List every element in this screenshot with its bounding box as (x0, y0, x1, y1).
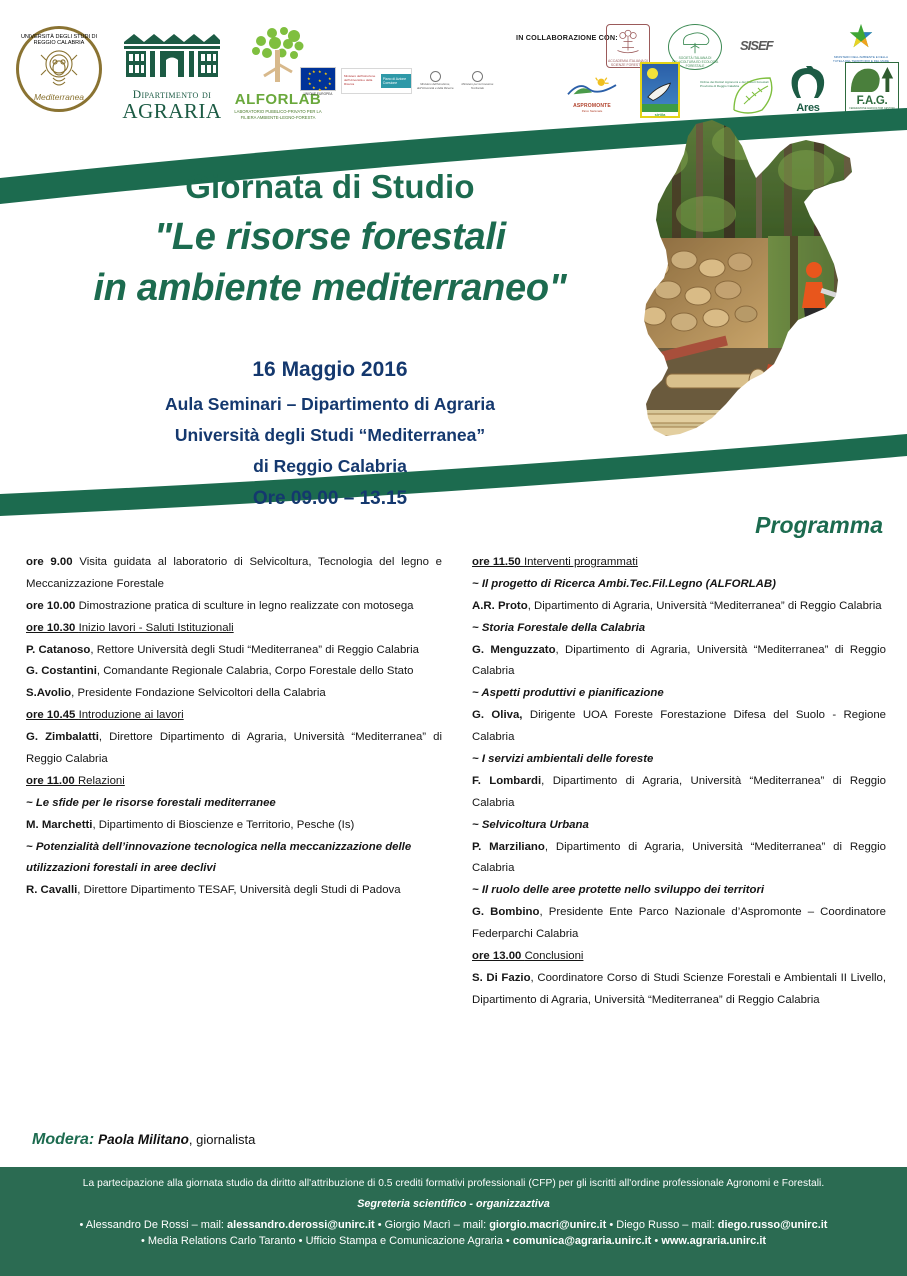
parco-aspromonte-logo: ASPROMONTE Parco Nazionale (564, 74, 620, 116)
program-speaker: M. Marchetti, Dipartimento di Bioscienze… (26, 815, 442, 837)
program-column-right: ore 11.50 Interventi programmati~ Il pro… (472, 552, 886, 1012)
contact-email[interactable]: diego.russo@unirc.it (718, 1219, 828, 1231)
academy-emblem-icon (608, 28, 648, 58)
footer-cfp-note: La partecipazione alla giornata studio d… (0, 1178, 907, 1189)
contact-prefix: • Diego Russo – mail: (606, 1219, 717, 1231)
program-talk-title: ~ Potenzialità dell’innovazione tecnolog… (26, 837, 442, 881)
venue-line-1: Aula Seminari – Dipartimento di Agraria (0, 394, 660, 415)
footer-secretariat-title: Segreteria scientifico - organizzaztiva (0, 1198, 907, 1210)
program-time: ore 10.00 (26, 600, 79, 612)
footer-bar: La partecipazione alla giornata studio d… (0, 1167, 907, 1276)
program-speaker: G. Oliva, Dirigente UOA Foreste Forestaz… (472, 705, 886, 749)
title-block: Giornata di Studio "Le risorse forestali… (0, 168, 660, 310)
contact-email[interactable]: www.agraria.unirc.it (661, 1235, 766, 1247)
speaker-name: S.Avolio (26, 687, 71, 699)
program-section-header: ore 13.00 Conclusioni (472, 946, 886, 968)
moderator-role: , giornalista (189, 1132, 255, 1147)
title-line-2: "Le risorse forestali (0, 216, 660, 259)
program-time: ore 10.45 (26, 709, 79, 721)
speaker-name: S. Di Fazio (472, 972, 531, 984)
colored-star-icon (828, 22, 894, 54)
poster-root: UNIVERSITÀ DEGLI STUDI DI REGGIO CALABRI… (0, 0, 907, 1276)
fag-sub: FEDERAZIONE AGRICOLTORI GESTORI (846, 107, 898, 110)
speaker-name: P. Marziliano (472, 841, 545, 853)
ministero-istruzione-label: Ministero dell'Istruzione, dell'Universi… (417, 83, 454, 90)
sisef-label: SISEF (740, 38, 773, 53)
talk-title-text: ~ Potenzialità dell’innovazione tecnolog… (26, 841, 411, 875)
title-line-1: Giornata di Studio (0, 168, 660, 206)
program-section-header: ore 11.50 Interventi programmati (472, 552, 886, 574)
footer-contacts-line-2: • Media Relations Carlo Taranto • Uffici… (0, 1235, 907, 1247)
program-talk-title: ~ Il progetto di Ricerca Ambi.Tec.Fil.Le… (472, 574, 886, 596)
program-section-header: ore 10.45 Introduzione ai lavori (26, 705, 442, 727)
broadleaf-tree-icon (671, 29, 719, 55)
eu-caption: UNIONE EUROPEA (300, 92, 336, 96)
program-entry-text: Dimostrazione pratica di sculture in leg… (79, 600, 414, 612)
program-speaker: P. Catanoso, Rettore Università degli St… (26, 640, 442, 662)
ares-group-logo: Ares GROUP (780, 66, 836, 120)
programma-heading: Programma (755, 512, 883, 539)
speaker-affiliation: , Coordinatore Corso di Studi Scienze Fo… (472, 972, 886, 1006)
program-section-text: Conclusioni (525, 950, 584, 962)
footer-contacts-line-1: • Alessandro De Rossi – mail: alessandro… (0, 1219, 907, 1231)
venue-block: 16 Maggio 2016 Aula Seminari – Dipartime… (0, 358, 660, 510)
talk-title-text: ~ Aspetti produttivi e pianificazione (472, 687, 664, 699)
unirc-crest-logo: UNIVERSITÀ DEGLI STUDI DI REGGIO CALABRI… (16, 26, 102, 112)
speaker-name: G. Oliva, (472, 709, 522, 721)
talk-title-text: ~ Le sfide per le risorse forestali medi… (26, 797, 276, 809)
program-entry-text: Visita guidata al laboratorio di Selvico… (26, 556, 442, 590)
program-section-header: ore 11.00 Relazioni (26, 771, 442, 793)
speaker-name: M. Marchetti (26, 819, 92, 831)
program-section-text: Interventi programmati (524, 556, 638, 568)
program-speaker: G. Zimbalatti, Direttore Dipartimento di… (26, 727, 442, 771)
program-speaker: G. Bombino, Presidente Ente Parco Nazion… (472, 902, 886, 946)
olive-circle-icon (700, 72, 776, 116)
aspromonte-sub: Parco Nazionale (564, 109, 620, 113)
crest-ring-bottom-text: Mediterranea (19, 92, 99, 102)
eu-flag-icon: ★★ ★★ ★★ ★★ ★★ ★★ (300, 67, 336, 91)
speaker-name: A.R. Proto (472, 600, 528, 612)
dipartimento-label-line2: AGRARIA (118, 101, 226, 122)
fag-artwork (846, 63, 898, 95)
speaker-affiliation: , Comandante Regionale Calabria, Corpo F… (97, 665, 414, 677)
contact-email[interactable]: alessandro.derossi@unirc.it (227, 1219, 375, 1231)
speaker-name: P. Catanoso (26, 644, 90, 656)
program-entry: ore 10.00 Dimostrazione pratica di scult… (26, 596, 442, 618)
collaboration-label: IN COLLABORAZIONE CON: (516, 33, 618, 42)
contact-prefix: • Giorgio Macrì – mail: (375, 1219, 490, 1231)
speaker-affiliation: , Dipartimento di Agraria, Università “M… (528, 600, 882, 612)
program-time: ore 11.50 (472, 556, 524, 568)
program-speaker: G. Menguzzato, Dipartimento di Agraria, … (472, 640, 886, 684)
speaker-name: F. Lombardi (472, 775, 541, 787)
mountain-sun-icon (565, 74, 619, 98)
ares-label: Ares (780, 102, 836, 114)
program-section-underlined: ore 11.00 Relazioni (26, 775, 125, 787)
moderator-label: Modera: (32, 1131, 94, 1148)
program-speaker: G. Costantini, Comandante Regionale Cala… (26, 661, 442, 683)
program-talk-title: ~ Selvicoltura Urbana (472, 815, 886, 837)
pon-left-text: Ministero dell'Istruzione dell'Universit… (342, 73, 381, 88)
program-speaker: R. Cavalli, Direttore Dipartimento TESAF… (26, 880, 442, 902)
program-speaker: S.Avolio, Presidente Fondazione Selvicol… (26, 683, 442, 705)
ministero-coesione-label: Ministero per la Coesione Territoriale (459, 83, 496, 90)
event-time: Ore 09.00 – 13.15 (0, 488, 660, 510)
sirtila-artwork (642, 64, 678, 104)
sirtila-label: sirtila (642, 112, 678, 117)
contact-prefix: • Media Relations Carlo Taranto • Uffici… (141, 1235, 513, 1247)
program-time: ore 10.30 (26, 622, 79, 634)
program-entry: ore 9.00 Visita guidata al laboratorio d… (26, 552, 442, 596)
program-section-text: Inizio lavori - Saluti Istituzionali (79, 622, 234, 634)
sirtila-logo: sirtila (640, 62, 680, 118)
talk-title-text: ~ Il ruolo delle aree protette nello svi… (472, 884, 764, 896)
speaker-affiliation: Dirigente UOA Foreste Forestazione Difes… (472, 709, 886, 743)
sisef-logo: SISEF (740, 38, 814, 54)
contact-email[interactable]: giorgio.macri@unirc.it (489, 1219, 606, 1231)
contact-prefix: • Alessandro De Rossi – mail: (80, 1219, 228, 1231)
program-time: ore 11.00 (26, 775, 78, 787)
lion-head-icon (33, 42, 85, 94)
talk-title-text: ~ Storia Forestale della Calabria (472, 622, 645, 634)
program-section-underlined: ore 10.30 Inizio lavori - Saluti Istituz… (26, 622, 234, 634)
event-date: 16 Maggio 2016 (0, 358, 660, 382)
program-talk-title: ~ Le sfide per le risorse forestali medi… (26, 793, 442, 815)
speaker-affiliation: , Direttore Dipartimento TESAF, Universi… (77, 884, 400, 896)
header-logos: UNIVERSITÀ DEGLI STUDI DI REGGIO CALABRI… (0, 0, 907, 128)
eu-funding-logos: ★★ ★★ ★★ ★★ ★★ ★★ UNIONE EUROPEA Ministe… (300, 60, 496, 102)
sirtila-ground (642, 104, 678, 112)
program-section-text: Relazioni (78, 775, 125, 787)
contact-prefix: • (651, 1235, 661, 1247)
pon-right-text: Piano di Azione Coesione (381, 74, 411, 89)
calabria-photo-collage (638, 118, 900, 498)
speaker-name: R. Cavalli (26, 884, 77, 896)
program-time: ore 9.00 (26, 556, 79, 568)
program-column-left: ore 9.00 Visita guidata al laboratorio d… (26, 552, 442, 902)
dipartimento-agraria-logo: Dipartimento di AGRARIA (118, 28, 226, 120)
fag-logo: F.A.G. FEDERAZIONE AGRICOLTORI GESTORI (845, 62, 899, 118)
bird-icon (642, 78, 678, 104)
moderator-name: Paola Militano (98, 1132, 189, 1147)
contact-email[interactable]: comunica@agraria.unirc.it (513, 1235, 652, 1247)
tree-pine-icon (847, 63, 897, 94)
talk-title-text: ~ I servizi ambientali delle foreste (472, 753, 653, 765)
pon-coesione-logo: Ministero dell'Istruzione dell'Universit… (341, 68, 412, 94)
program-section-text: Introduzione ai lavori (79, 709, 184, 721)
speaker-affiliation: , Presidente Fondazione Selvicoltori del… (71, 687, 326, 699)
talk-title-text: ~ Il progetto di Ricerca Ambi.Tec.Fil.Le… (472, 578, 776, 590)
republic-seal-icon (430, 71, 441, 82)
speaker-affiliation: , Dipartimento di Bioscienze e Territori… (92, 819, 354, 831)
program-speaker: A.R. Proto, Dipartimento di Agraria, Uni… (472, 596, 886, 618)
program-speaker: F. Lombardi, Dipartimento di Agraria, Un… (472, 771, 886, 815)
program-section-underlined: ore 10.45 Introduzione ai lavori (26, 709, 184, 721)
eu-flag-block: ★★ ★★ ★★ ★★ ★★ ★★ UNIONE EUROPEA (300, 67, 336, 96)
program-speaker: P. Marziliano, Dipartimento di Agraria, … (472, 837, 886, 881)
title-line-3: in ambiente mediterraneo" (0, 267, 660, 310)
program-talk-title: ~ I servizi ambientali delle foreste (472, 749, 886, 771)
ministero-coesione-logo: Ministero per la Coesione Territoriale (459, 71, 496, 90)
spartan-helmet-icon (788, 66, 828, 100)
program-columns: ore 9.00 Visita guidata al laboratorio d… (0, 552, 907, 1152)
program-section-underlined: ore 11.50 Interventi programmati (472, 556, 638, 568)
program-talk-title: ~ Il ruolo delle aree protette nello svi… (472, 880, 886, 902)
talk-title-text: ~ Selvicoltura Urbana (472, 819, 589, 831)
venue-line-3: di Reggio Calabria (0, 456, 660, 477)
speaker-name: G. Bombino (472, 906, 539, 918)
speaker-affiliation: , Rettore Università degli Studi “Medite… (90, 644, 419, 656)
program-talk-title: ~ Storia Forestale della Calabria (472, 618, 886, 640)
ministero-istruzione-logo: Ministero dell'Istruzione, dell'Universi… (417, 71, 454, 90)
speaker-name: G. Zimbalatti (26, 731, 99, 743)
speaker-name: G. Costantini (26, 665, 97, 677)
program-speaker: S. Di Fazio, Coordinatore Corso di Studi… (472, 968, 886, 1012)
building-icon (120, 28, 224, 82)
alforlab-subtitle: LABORATORIO PUBBLICO-PRIVATO PER LA FILI… (232, 109, 324, 120)
fag-label: F.A.G. (846, 95, 898, 107)
program-section-header: ore 10.30 Inizio lavori - Saluti Istituz… (26, 618, 442, 640)
program-section-underlined: ore 13.00 Conclusioni (472, 950, 583, 962)
speaker-name: G. Menguzzato (472, 644, 556, 656)
moderator-line: Modera: Paola Militano, giornalista (32, 1131, 255, 1149)
republic-seal-icon-2 (472, 71, 483, 82)
program-talk-title: ~ Aspetti produttivi e pianificazione (472, 683, 886, 705)
ordine-agronomi-logo: Ordine dei Dottori Agronomi e dei Dottor… (700, 72, 776, 120)
venue-line-2: Università degli Studi “Mediterranea” (0, 425, 660, 446)
program-time: ore 13.00 (472, 950, 525, 962)
